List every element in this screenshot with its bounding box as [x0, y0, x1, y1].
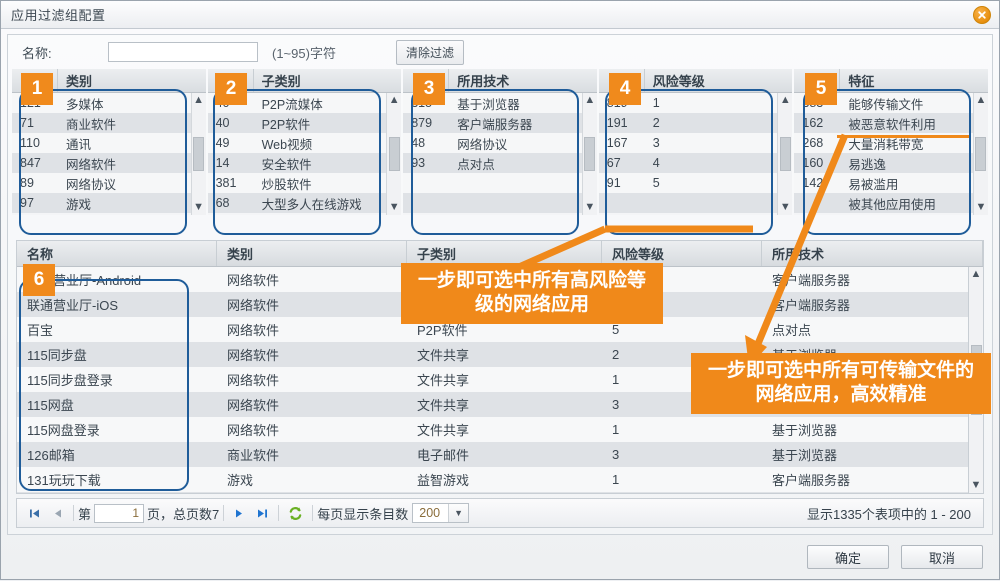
item-count: 89: [12, 176, 58, 190]
ok-button[interactable]: 确定: [807, 545, 889, 569]
filter-list[interactable]: 8191 1912 1673 674 915: [599, 93, 778, 215]
item-label: 网络协议: [449, 134, 507, 153]
list-item[interactable]: 142易被滥用: [794, 173, 973, 193]
list-item[interactable]: 674: [599, 153, 778, 173]
filter-scrollbar[interactable]: ▲ ▼: [973, 93, 988, 215]
filter-header-label: 风险等级: [645, 71, 705, 90]
filter-list[interactable]: 383能够传输文件 162被恶意软件利用 268大量消耗带宽 160易逃逸 14…: [794, 93, 973, 215]
badge-1: 1: [21, 73, 53, 105]
badge-2: 2: [215, 73, 247, 105]
item-label: 3: [645, 136, 660, 150]
app-filter-group-dialog: 应用过滤组配置 名称: (1~95)字符 清除过滤 类别: [0, 0, 1000, 580]
scroll-down-icon[interactable]: ▼: [976, 202, 987, 213]
result-summary: 显示1335个表项中的 1 - 200: [807, 504, 977, 523]
item-label: 5: [645, 176, 660, 190]
item-count: 879: [403, 116, 449, 130]
page-title: 应用过滤组配置: [11, 5, 106, 24]
cell-technology: 客户端服务器: [762, 295, 968, 314]
item-count: 14: [208, 156, 254, 170]
name-row: 名称: (1~95)字符 清除过滤: [8, 35, 992, 69]
list-item[interactable]: 879客户端服务器: [403, 113, 582, 133]
list-item[interactable]: 68大型多人在线游戏: [208, 193, 387, 213]
per-page-label: 每页显示条目数: [317, 504, 408, 523]
list-item[interactable]: 40P2P软件: [208, 113, 387, 133]
item-count: 160: [794, 156, 840, 170]
item-count: 68: [208, 196, 254, 210]
list-item[interactable]: 1673: [599, 133, 778, 153]
scrollbar-thumb[interactable]: [389, 137, 400, 171]
scrollbar-thumb[interactable]: [975, 137, 986, 171]
filter-list[interactable]: 315基于浏览器 879客户端服务器 48网络协议 93点对点: [403, 93, 582, 215]
item-label: P2P流媒体: [254, 94, 323, 113]
item-count: 167: [599, 136, 645, 150]
item-label: 多媒体: [58, 94, 104, 113]
title-bar: 应用过滤组配置: [1, 1, 999, 29]
item-label: 4: [645, 156, 660, 170]
item-count: 162: [794, 116, 840, 130]
page-prefix-label: 第: [78, 504, 91, 523]
name-label: 名称:: [22, 43, 108, 62]
filter-header-label: 所用技术: [449, 71, 509, 90]
filter-scrollbar[interactable]: ▲ ▼: [386, 93, 401, 215]
divider: [278, 505, 279, 521]
table-row[interactable]: 115网盘登录网络软件文件共享1基于浏览器: [17, 417, 968, 442]
pagination-bar: 第 页，总页数7 每页显示条目数 200: [16, 498, 984, 528]
cell-risk: 5: [602, 322, 762, 337]
item-label: 基于浏览器: [449, 94, 520, 113]
scroll-down-icon[interactable]: ▼: [780, 202, 791, 213]
cell-name: 126邮箱: [17, 445, 217, 464]
page-suffix-label: 页，总页数7: [147, 504, 219, 523]
next-page-icon[interactable]: [228, 507, 251, 520]
cell-name: 131玩玩下载: [17, 470, 217, 489]
list-item[interactable]: 162被恶意软件利用: [794, 113, 973, 133]
cell-category: 网络软件: [217, 295, 407, 314]
refresh-icon[interactable]: [283, 506, 308, 521]
item-label: 大型多人在线游戏: [254, 194, 362, 213]
cell-category: 网络软件: [217, 370, 407, 389]
item-count: 71: [12, 116, 58, 130]
cell-risk: 1: [602, 472, 762, 487]
item-count: 91: [599, 176, 645, 190]
scroll-down-icon[interactable]: ▼: [193, 202, 204, 213]
list-item[interactable]: 847网络软件: [12, 153, 191, 173]
item-label: 能够传输文件: [840, 94, 923, 113]
filter-list[interactable]: 121多媒体 71商业软件 110通讯 847网络软件 89网络协议 97游戏: [12, 93, 191, 215]
table-row[interactable]: 131玩玩下载游戏益智游戏1客户端服务器: [17, 467, 968, 492]
cell-category: 网络软件: [217, 345, 407, 364]
last-page-icon[interactable]: [251, 507, 274, 520]
filter-header-label: 特征: [840, 71, 874, 90]
cell-technology: 客户端服务器: [762, 270, 968, 289]
item-label: 2: [645, 116, 660, 130]
scrollbar-thumb[interactable]: [193, 137, 204, 171]
filter-body: 383能够传输文件 162被恶意软件利用 268大量消耗带宽 160易逃逸 14…: [794, 93, 988, 215]
item-count: 142: [794, 176, 840, 190]
badge-6: 6: [23, 264, 55, 296]
divider: [73, 505, 74, 521]
filter-scrollbar[interactable]: ▲ ▼: [777, 93, 792, 215]
scrollbar-thumb[interactable]: [584, 137, 595, 171]
scroll-up-icon[interactable]: ▲: [976, 95, 987, 106]
scrollbar-thumb[interactable]: [780, 137, 791, 171]
column-header-category[interactable]: 类别: [217, 241, 407, 266]
item-label: 客户端服务器: [449, 114, 532, 133]
filter-header-label: 子类别: [254, 71, 301, 90]
item-count: 67: [599, 156, 645, 170]
per-page-value: 200: [413, 506, 448, 520]
badge-5: 5: [805, 73, 837, 105]
chevron-down-icon[interactable]: ▼: [448, 504, 468, 522]
cell-name: 联通营业厅-iOS: [17, 295, 217, 314]
item-count: 110: [12, 136, 58, 150]
list-item[interactable]: [599, 193, 778, 213]
item-count: 268: [794, 136, 840, 150]
cell-category: 网络软件: [217, 395, 407, 414]
scroll-down-icon[interactable]: ▼: [389, 202, 400, 213]
cell-name: 115网盘: [17, 395, 217, 414]
cell-subcategory: 文件共享: [407, 370, 602, 389]
scroll-up-icon[interactable]: ▲: [971, 269, 982, 280]
cell-category: 网络软件: [217, 320, 407, 339]
badge-3: 3: [413, 73, 445, 105]
cell-subcategory: 益智游戏: [407, 470, 602, 489]
cell-technology: 基于浏览器: [762, 445, 968, 464]
first-page-icon[interactable]: [23, 507, 46, 520]
close-icon[interactable]: [973, 6, 991, 24]
item-label: 通讯: [58, 134, 91, 153]
prev-page-icon[interactable]: [46, 507, 69, 520]
item-count: 40: [208, 116, 254, 130]
cell-risk: 1: [602, 422, 762, 437]
filter-list[interactable]: 40P2P流媒体 40P2P软件 49Web视频 14安全软件 381炒股软件 …: [208, 93, 387, 215]
callout-file-transfer: 一步即可选中所有可传输文件的网络应用，高效精准: [691, 353, 991, 414]
cancel-button[interactable]: 取消: [901, 545, 983, 569]
filter-body: 121多媒体 71商业软件 110通讯 847网络软件 89网络协议 97游戏 …: [12, 93, 206, 215]
item-count: 93: [403, 156, 449, 170]
item-label: 被其他应用使用: [840, 194, 936, 213]
cell-technology: 基于浏览器: [762, 420, 968, 439]
item-label: 被恶意软件利用: [840, 114, 936, 133]
dialog-footer: 确定 取消: [1, 535, 999, 579]
scroll-up-icon[interactable]: ▲: [193, 95, 204, 106]
cell-name: 115同步盘登录: [17, 370, 217, 389]
list-item[interactable]: 93点对点: [403, 153, 582, 173]
list-item[interactable]: 被其他应用使用: [794, 193, 973, 213]
divider: [312, 505, 313, 521]
item-label: 易被滥用: [840, 174, 898, 193]
cell-subcategory: 文件共享: [407, 395, 602, 414]
name-hint: (1~95)字符: [272, 43, 336, 62]
badge-4: 4: [609, 73, 641, 105]
cell-subcategory: 电子邮件: [407, 445, 602, 464]
cell-subcategory: 文件共享: [407, 420, 602, 439]
close-x-glyph: [977, 10, 987, 20]
scroll-up-icon[interactable]: ▲: [389, 95, 400, 106]
cell-category: 商业软件: [217, 445, 407, 464]
page-number-input[interactable]: [94, 504, 144, 523]
divider: [223, 505, 224, 521]
scroll-up-icon[interactable]: ▲: [584, 95, 595, 106]
per-page-select[interactable]: 200 ▼: [412, 503, 469, 523]
name-input[interactable]: [108, 42, 258, 62]
filter-scrollbar[interactable]: ▲ ▼: [582, 93, 597, 215]
item-label: 游戏: [58, 194, 91, 213]
cell-technology: 客户端服务器: [762, 470, 968, 489]
scroll-down-icon[interactable]: ▼: [584, 202, 595, 213]
list-item[interactable]: 71商业软件: [12, 113, 191, 133]
filter-body: 8191 1912 1673 674 915 ▲ ▼: [599, 93, 793, 215]
scroll-down-icon[interactable]: ▼: [971, 480, 982, 491]
list-item[interactable]: [403, 193, 582, 213]
cell-technology: 点对点: [762, 320, 968, 339]
list-item[interactable]: 14安全软件: [208, 153, 387, 173]
column-header-technology[interactable]: 所用技术: [762, 241, 983, 266]
cell-category: 游戏: [217, 470, 407, 489]
column-header-name[interactable]: 名称: [17, 241, 217, 266]
item-label: 1: [645, 96, 660, 110]
feature-highlight-underline: [837, 135, 969, 138]
item-label: 易逃逸: [840, 154, 886, 173]
item-label: P2P软件: [254, 114, 311, 133]
list-item[interactable]: 915: [599, 173, 778, 193]
cell-risk: 3: [602, 447, 762, 462]
cell-category: 网络软件: [217, 420, 407, 439]
item-label: 安全软件: [254, 154, 312, 173]
list-item[interactable]: 89网络协议: [12, 173, 191, 193]
filter-scrollbar[interactable]: ▲ ▼: [191, 93, 206, 215]
list-item[interactable]: 160易逃逸: [794, 153, 973, 173]
filter-panels: 类别 121多媒体 71商业软件 110通讯 847网络软件 89网络协议 97…: [10, 69, 990, 215]
list-item[interactable]: 48网络协议: [403, 133, 582, 153]
item-label: Web视频: [254, 134, 312, 153]
list-item[interactable]: 97游戏: [12, 193, 191, 213]
item-count: 847: [12, 156, 58, 170]
item-count: 48: [403, 136, 449, 150]
item-label: 网络软件: [58, 154, 116, 173]
cell-category: 网络软件: [217, 270, 407, 289]
cell-subcategory: 文件共享: [407, 345, 602, 364]
cell-name: 115同步盘: [17, 345, 217, 364]
list-item[interactable]: 381炒股软件: [208, 173, 387, 193]
item-label: 网络协议: [58, 174, 116, 193]
list-item[interactable]: 1912: [599, 113, 778, 133]
list-item[interactable]: [403, 173, 582, 193]
cell-name: 百宝: [17, 320, 217, 339]
item-count: 381: [208, 176, 254, 190]
item-label: 炒股软件: [254, 174, 312, 193]
item-label: 商业软件: [58, 114, 116, 133]
item-count: 49: [208, 136, 254, 150]
filter-header-label: 类别: [58, 71, 92, 90]
item-label: 点对点: [449, 154, 495, 173]
cell-name: 115网盘登录: [17, 420, 217, 439]
scroll-up-icon[interactable]: ▲: [780, 95, 791, 106]
list-item[interactable]: 49Web视频: [208, 133, 387, 153]
callout-risk-level: 一步即可选中所有高风险等级的网络应用: [401, 263, 663, 324]
list-item[interactable]: 110通讯: [12, 133, 191, 153]
table-row[interactable]: 131玩玩游戏游戏益智游戏1客户端服务器: [17, 492, 968, 493]
item-count: 97: [12, 196, 58, 210]
filter-body: 40P2P流媒体 40P2P软件 49Web视频 14安全软件 381炒股软件 …: [208, 93, 402, 215]
table-row[interactable]: 126邮箱商业软件电子邮件3基于浏览器: [17, 442, 968, 467]
clear-filter-button[interactable]: 清除过滤: [396, 40, 464, 65]
filter-body: 315基于浏览器 879客户端服务器 48网络协议 93点对点 ▲ ▼: [403, 93, 597, 215]
item-count: 191: [599, 116, 645, 130]
